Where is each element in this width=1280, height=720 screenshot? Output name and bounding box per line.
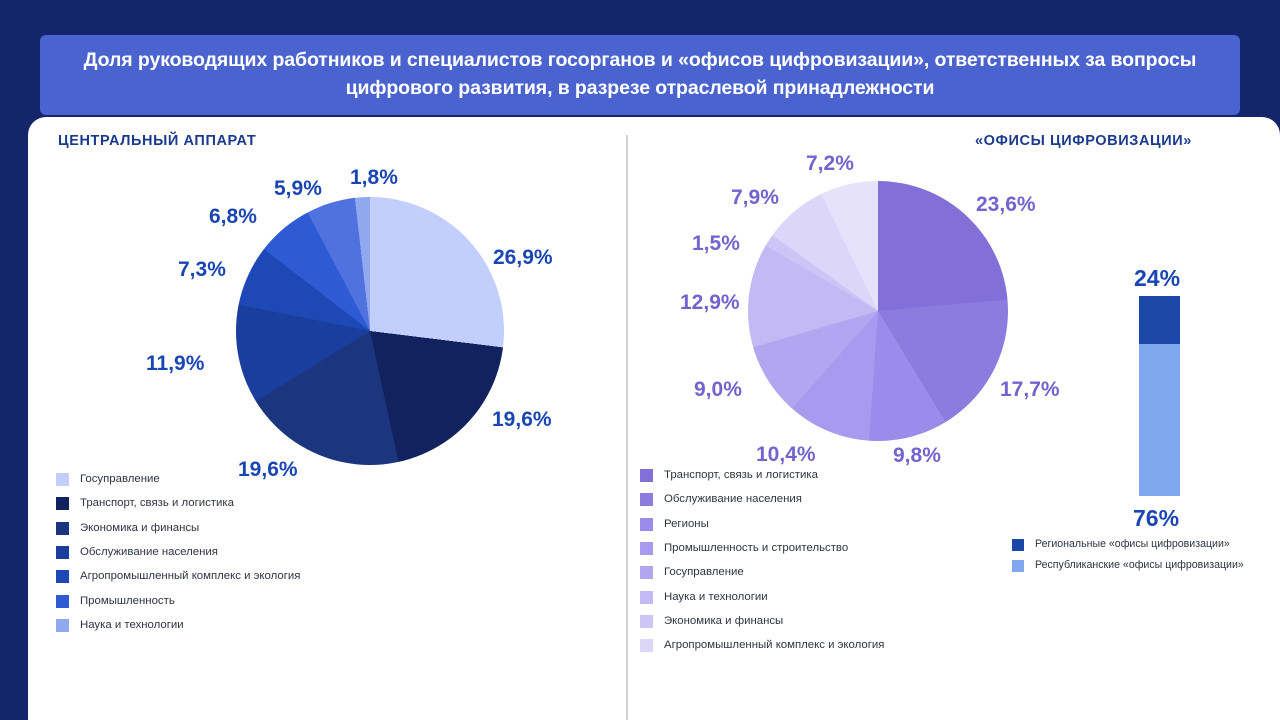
panel-heading-digital-offices: «ОФИСЫ ЦИФРОВИЗАЦИИ» bbox=[975, 133, 1192, 149]
legend-label: Региональные «офисы цифровизации» bbox=[1035, 538, 1230, 552]
legend-label: Промышленность и строительство bbox=[664, 541, 848, 556]
bar-segment bbox=[1139, 296, 1180, 344]
legend-digital-offices-item[interactable]: Транспорт, связь и логистика bbox=[640, 468, 884, 483]
legend-office-types: Региональные «офисы цифровизации»Республ… bbox=[1012, 538, 1244, 580]
legend-swatch-icon bbox=[56, 473, 69, 486]
legend-central-apparatus-item[interactable]: Госуправление bbox=[56, 472, 300, 487]
legend-label: Транспорт, связь и логистика bbox=[80, 496, 234, 511]
legend-central-apparatus-item[interactable]: Транспорт, связь и логистика bbox=[56, 496, 300, 511]
pie-right-value-1: 17,7% bbox=[1000, 378, 1060, 402]
legend-label: Экономика и финансы bbox=[664, 614, 783, 629]
pie-right-value-7: 7,9% bbox=[731, 186, 779, 210]
legend-central-apparatus-item[interactable]: Обслуживание населения bbox=[56, 545, 300, 560]
pie-left-value-1: 19,6% bbox=[492, 408, 552, 432]
legend-swatch-icon bbox=[640, 469, 653, 482]
pie-right-value-0: 23,6% bbox=[976, 193, 1036, 217]
pie-right-value-6: 1,5% bbox=[692, 232, 740, 256]
legend-digital-offices-item[interactable]: Наука и технологии bbox=[640, 590, 884, 605]
pie-left-value-3: 11,9% bbox=[146, 352, 204, 376]
legend-swatch-icon bbox=[640, 542, 653, 555]
pie-chart-digital-offices bbox=[748, 181, 1008, 441]
legend-label: Регионы bbox=[664, 517, 709, 532]
legend-label: Агропромышленный комплекс и экология bbox=[80, 569, 300, 584]
pie-left-value-7: 1,8% bbox=[350, 166, 398, 190]
legend-label: Госуправление bbox=[80, 472, 160, 487]
pie-right-value-8: 7,2% bbox=[806, 152, 854, 176]
legend-swatch-icon bbox=[56, 570, 69, 583]
pie-left-value-5: 6,8% bbox=[209, 205, 257, 229]
page-title: Доля руководящих работников и специалист… bbox=[80, 47, 1200, 102]
pie-left-value-0: 26,9% bbox=[493, 246, 553, 270]
legend-swatch-icon bbox=[640, 518, 653, 531]
legend-swatch-icon bbox=[56, 595, 69, 608]
legend-office-types-item[interactable]: Республиканские «офисы цифровизации» bbox=[1012, 559, 1244, 573]
legend-label: Обслуживание населения bbox=[664, 492, 802, 507]
pie-right-value-2: 9,8% bbox=[893, 444, 941, 468]
bar-value-regional: 24% bbox=[1134, 265, 1180, 292]
legend-central-apparatus-item[interactable]: Экономика и финансы bbox=[56, 521, 300, 536]
legend-digital-offices-item[interactable]: Агропромышленный комплекс и экология bbox=[640, 638, 884, 653]
legend-label: Транспорт, связь и логистика bbox=[664, 468, 818, 483]
legend-label: Агропромышленный комплекс и экология bbox=[664, 638, 884, 653]
stacked-bar-chart bbox=[1139, 296, 1180, 496]
legend-central-apparatus-item[interactable]: Промышленность bbox=[56, 594, 300, 609]
legend-swatch-icon bbox=[1012, 539, 1024, 551]
legend-swatch-icon bbox=[640, 591, 653, 604]
legend-label: Обслуживание населения bbox=[80, 545, 218, 560]
legend-digital-offices-item[interactable]: Экономика и финансы bbox=[640, 614, 884, 629]
legend-digital-offices: Транспорт, связь и логистикаОбслуживание… bbox=[640, 468, 884, 663]
pie-right-value-3: 10,4% bbox=[756, 443, 816, 467]
legend-swatch-icon bbox=[56, 546, 69, 559]
legend-central-apparatus-item[interactable]: Агропромышленный комплекс и экология bbox=[56, 569, 300, 584]
legend-label: Республиканские «офисы цифровизации» bbox=[1035, 559, 1244, 573]
legend-swatch-icon bbox=[56, 497, 69, 510]
legend-digital-offices-item[interactable]: Промышленность и строительство bbox=[640, 541, 884, 556]
legend-swatch-icon bbox=[56, 522, 69, 535]
legend-digital-offices-item[interactable]: Регионы bbox=[640, 517, 884, 532]
legend-label: Наука и технологии bbox=[664, 590, 768, 605]
legend-label: Экономика и финансы bbox=[80, 521, 199, 536]
pie-chart-central-apparatus bbox=[236, 197, 504, 465]
legend-central-apparatus-item[interactable]: Наука и технологии bbox=[56, 618, 300, 633]
legend-swatch-icon bbox=[1012, 560, 1024, 572]
legend-swatch-icon bbox=[56, 619, 69, 632]
legend-swatch-icon bbox=[640, 615, 653, 628]
pie-right-value-5: 12,9% bbox=[680, 291, 740, 315]
panel-divider bbox=[626, 135, 628, 720]
legend-office-types-item[interactable]: Региональные «офисы цифровизации» bbox=[1012, 538, 1244, 552]
legend-label: Наука и технологии bbox=[80, 618, 184, 633]
pie-left-value-4: 7,3% bbox=[178, 258, 226, 282]
legend-central-apparatus: ГосуправлениеТранспорт, связь и логистик… bbox=[56, 472, 300, 642]
legend-swatch-icon bbox=[640, 493, 653, 506]
legend-swatch-icon bbox=[640, 566, 653, 579]
legend-digital-offices-item[interactable]: Обслуживание населения bbox=[640, 492, 884, 507]
legend-label: Госуправление bbox=[664, 565, 744, 580]
panel-heading-central-apparatus: ЦЕНТРАЛЬНЫЙ АППАРАТ bbox=[58, 133, 256, 149]
pie-left-value-6: 5,9% bbox=[274, 177, 322, 201]
title-banner: Доля руководящих работников и специалист… bbox=[40, 35, 1240, 115]
legend-swatch-icon bbox=[640, 639, 653, 652]
legend-digital-offices-item[interactable]: Госуправление bbox=[640, 565, 884, 580]
legend-label: Промышленность bbox=[80, 594, 175, 609]
pie-right-value-4: 9,0% bbox=[694, 378, 742, 402]
bar-segment bbox=[1139, 344, 1180, 496]
bar-value-republican: 76% bbox=[1133, 505, 1179, 532]
